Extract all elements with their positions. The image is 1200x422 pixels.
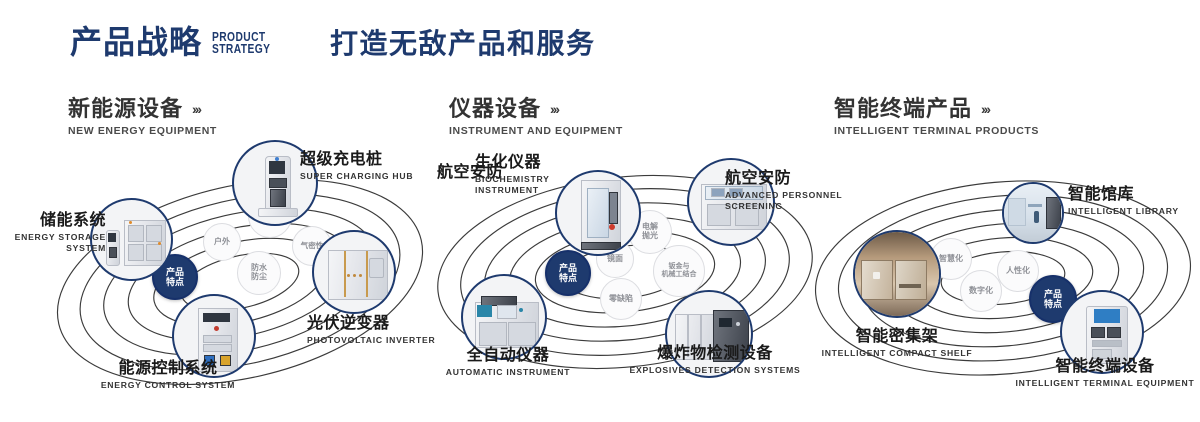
library-room-icon bbox=[1004, 184, 1062, 242]
core-bubble-line1: 产品 bbox=[1044, 289, 1062, 299]
label-intelligent-terminal-equipment: 智能终端设备 INTELLIGENT TERMINAL EQUIPMENT bbox=[1015, 358, 1195, 389]
page-title-en: PRODUCT STRATEGY bbox=[212, 31, 270, 57]
core-bubble-product-features[interactable]: 产品 特点 bbox=[545, 250, 591, 296]
section-title-en: NEW ENERGY EQUIPMENT bbox=[68, 125, 217, 137]
cluster-intelligent-terminal: 智慧化 数字化 人性化 产品 特点 bbox=[805, 150, 1200, 410]
automatic-instrument-icon bbox=[463, 276, 545, 358]
feature-bubble-digital[interactable]: 数字化 bbox=[960, 270, 1002, 312]
node-photovoltaic-inverter[interactable] bbox=[312, 230, 396, 314]
page-subtitle: 打造无敌产品和服务 bbox=[330, 30, 596, 58]
label-intelligent-compact-shelf: 智能密集架 INTELLIGENT COMPACT SHELF bbox=[817, 328, 977, 359]
section-title-cn: 仪器设备 ››› bbox=[449, 96, 623, 121]
core-bubble-line1: 产品 bbox=[559, 263, 577, 273]
chevrons-icon: ››› bbox=[192, 101, 200, 117]
feature-bubble-waterproof[interactable]: 防水 防尘 bbox=[237, 251, 281, 295]
label-energy-storage-system: 储能系统 ENERGY STORAGE SYSTEM bbox=[0, 212, 106, 254]
page-title: 产品战略 PRODUCT STRATEGY bbox=[70, 26, 283, 58]
cluster-new-energy: 产品 特点 户外 防腐 防锈 防水 防尘 气密性 bbox=[40, 150, 440, 410]
label-explosives-detection-systems: 爆炸物检测设备 EXPLOSIVES DETECTION SYSTEMS bbox=[625, 345, 805, 376]
core-bubble-line2: 特点 bbox=[559, 273, 577, 283]
core-bubble-line2: 特点 bbox=[1044, 299, 1062, 309]
page-title-cn: 产品战略 bbox=[70, 26, 202, 58]
section-title-instrument: 仪器设备 ››› INSTRUMENT AND EQUIPMENT bbox=[449, 96, 623, 137]
label-automatic-instrument: 全自动仪器 AUTOMATIC INSTRUMENT bbox=[423, 347, 593, 378]
label-intelligent-library: 智能馆库 INTELLIGENT LIBRARY bbox=[1068, 186, 1200, 217]
section-title-cn: 智能终端产品 ››› bbox=[834, 96, 1039, 121]
section-title-en: INSTRUMENT AND EQUIPMENT bbox=[449, 125, 623, 137]
pv-inverter-cabinet-icon bbox=[314, 232, 394, 312]
product-strategy-infographic: 产品战略 PRODUCT STRATEGY 打造无敌产品和服务 新能源设备 ››… bbox=[0, 0, 1200, 422]
page-title-en-line1: PRODUCT bbox=[212, 31, 270, 44]
section-title-en: INTELLIGENT TERMINAL PRODUCTS bbox=[834, 125, 1039, 137]
node-intelligent-compact-shelf[interactable] bbox=[853, 230, 941, 318]
feature-bubble-sheetmetal-machining[interactable]: 钣金与 机械工结合 bbox=[653, 245, 705, 297]
feature-bubble-zero-defect[interactable]: 零缺陷 bbox=[600, 278, 642, 320]
label-energy-control-system: 能源控制系统 ENERGY CONTROL SYSTEM bbox=[78, 360, 258, 391]
section-title-cn: 新能源设备 ››› bbox=[68, 96, 217, 121]
chevrons-icon: ››› bbox=[550, 101, 558, 117]
cluster-instrument: 产品 特点 镜面 电解 抛光 零缺陷 钣金与 机械工结合 bbox=[425, 150, 825, 410]
chevrons-icon: ››› bbox=[981, 101, 989, 117]
section-title-new-energy: 新能源设备 ››› NEW ENERGY EQUIPMENT bbox=[68, 96, 217, 137]
section-title-intelligent-terminal: 智能终端产品 ››› INTELLIGENT TERMINAL PRODUCTS bbox=[834, 96, 1039, 137]
feature-bubble-outdoor[interactable]: 户外 bbox=[203, 223, 241, 261]
label-biochemistry-instrument: 生化仪器 BIOCHEMISTRY INSTRUMENT bbox=[475, 154, 615, 196]
node-intelligent-library[interactable] bbox=[1002, 182, 1064, 244]
page-title-en-line2: STRATEGY bbox=[212, 43, 270, 56]
compact-shelf-icon bbox=[855, 232, 939, 316]
